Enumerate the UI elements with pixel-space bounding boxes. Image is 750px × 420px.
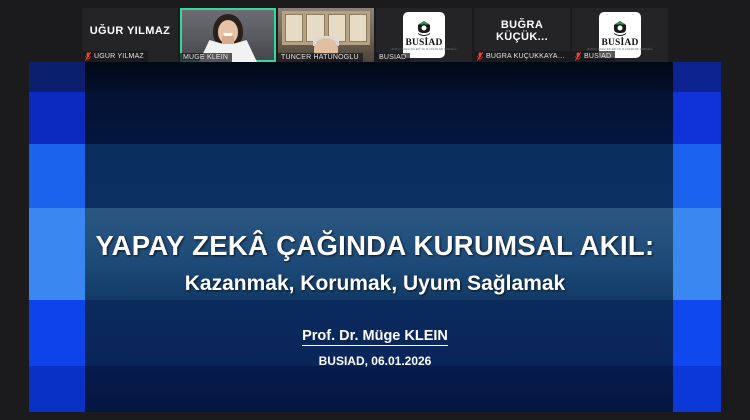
participant-name-label: BUĞRA KÜÇÜKKAYALA.. <box>486 53 566 60</box>
mic-muted-icon <box>477 52 483 61</box>
participant-name-label: BUSİAD <box>584 53 611 60</box>
slide-presenter-name: Prof. Dr. Müge KLEIN <box>302 328 448 346</box>
participant-name-tag: BUĞRA KÜÇÜKKAYALA.. <box>474 51 570 62</box>
participant-name-label: BUSİAD <box>379 54 406 61</box>
slide-band-3 <box>0 144 750 208</box>
slide-subtitle: Kazanmak, Korumak, Uyum Sağlamak <box>0 272 750 296</box>
participant-tile-busiad-2[interactable]: BUSİAD BURSA SANAYİCİLERİ VE İŞ ADAMLARI… <box>572 8 668 62</box>
participant-tile-ugur-yilmaz[interactable]: UĞUR YILMAZ UĞUR YILMAZ <box>82 8 178 62</box>
busiad-subtitle: BURSA SANAYİCİLERİ VE İŞ ADAMLARI DERNEĞ… <box>391 49 456 52</box>
slide-band-2 <box>0 92 750 144</box>
slide-title: YAPAY ZEKÂ ÇAĞINDA KURUMSAL AKIL: <box>0 230 750 262</box>
slide-letterbox-left <box>0 62 29 412</box>
participant-display-name: BUĞRA KÜÇÜK... <box>474 19 570 51</box>
participant-name-tag: TUNCER HATUNOĞLU <box>278 53 363 62</box>
window-bottom-strip <box>0 412 750 420</box>
participant-name-tag: MÜGE KLEIN <box>180 53 232 62</box>
participant-tile-tuncer-hatunoglu[interactable]: TUNCER HATUNOĞLU <box>278 8 374 62</box>
participant-filmstrip[interactable]: UĞUR YILMAZ UĞUR YILMAZ MÜGE KLEIN <box>0 0 750 62</box>
participant-tile-busiad-1[interactable]: BUSİAD BURSA SANAYİCİLERİ VE İŞ ADAMLARI… <box>376 8 472 62</box>
shared-presentation-slide[interactable]: YAPAY ZEKÂ ÇAĞINDA KURUMSAL AKIL: Kazanm… <box>0 62 750 412</box>
busiad-mark-icon <box>414 20 434 38</box>
participant-tile-bugra-kucukkayalar[interactable]: BUĞRA KÜÇÜK... BUĞRA KÜÇÜKKAYALA.. <box>474 8 570 62</box>
slide-band-6 <box>0 366 750 412</box>
mic-muted-icon <box>575 52 581 61</box>
busiad-logo-icon: BUSİAD BURSA SANAYİCİLERİ VE İŞ ADAMLARI… <box>403 12 445 58</box>
participant-name-tag: BUSİAD <box>376 53 410 62</box>
participant-display-name: UĞUR YILMAZ <box>86 25 175 45</box>
participant-name-tag: BUSİAD <box>572 51 615 62</box>
participant-name-label: UĞUR YILMAZ <box>94 53 144 60</box>
participant-tile-muge-klein[interactable]: MÜGE KLEIN <box>180 8 276 62</box>
slide-band-1 <box>0 62 750 92</box>
participant-name-label: TUNCER HATUNOĞLU <box>281 54 359 61</box>
busiad-mark-icon <box>610 20 630 38</box>
slide-presenter: Prof. Dr. Müge KLEIN <box>0 327 750 345</box>
slide-venue-date: BUSIAD, 06.01.2026 <box>0 354 750 368</box>
mic-muted-icon <box>85 52 91 61</box>
participant-name-tag: UĞUR YILMAZ <box>82 51 148 62</box>
participant-name-label: MÜGE KLEIN <box>183 54 228 61</box>
slide-letterbox-right <box>721 62 750 412</box>
